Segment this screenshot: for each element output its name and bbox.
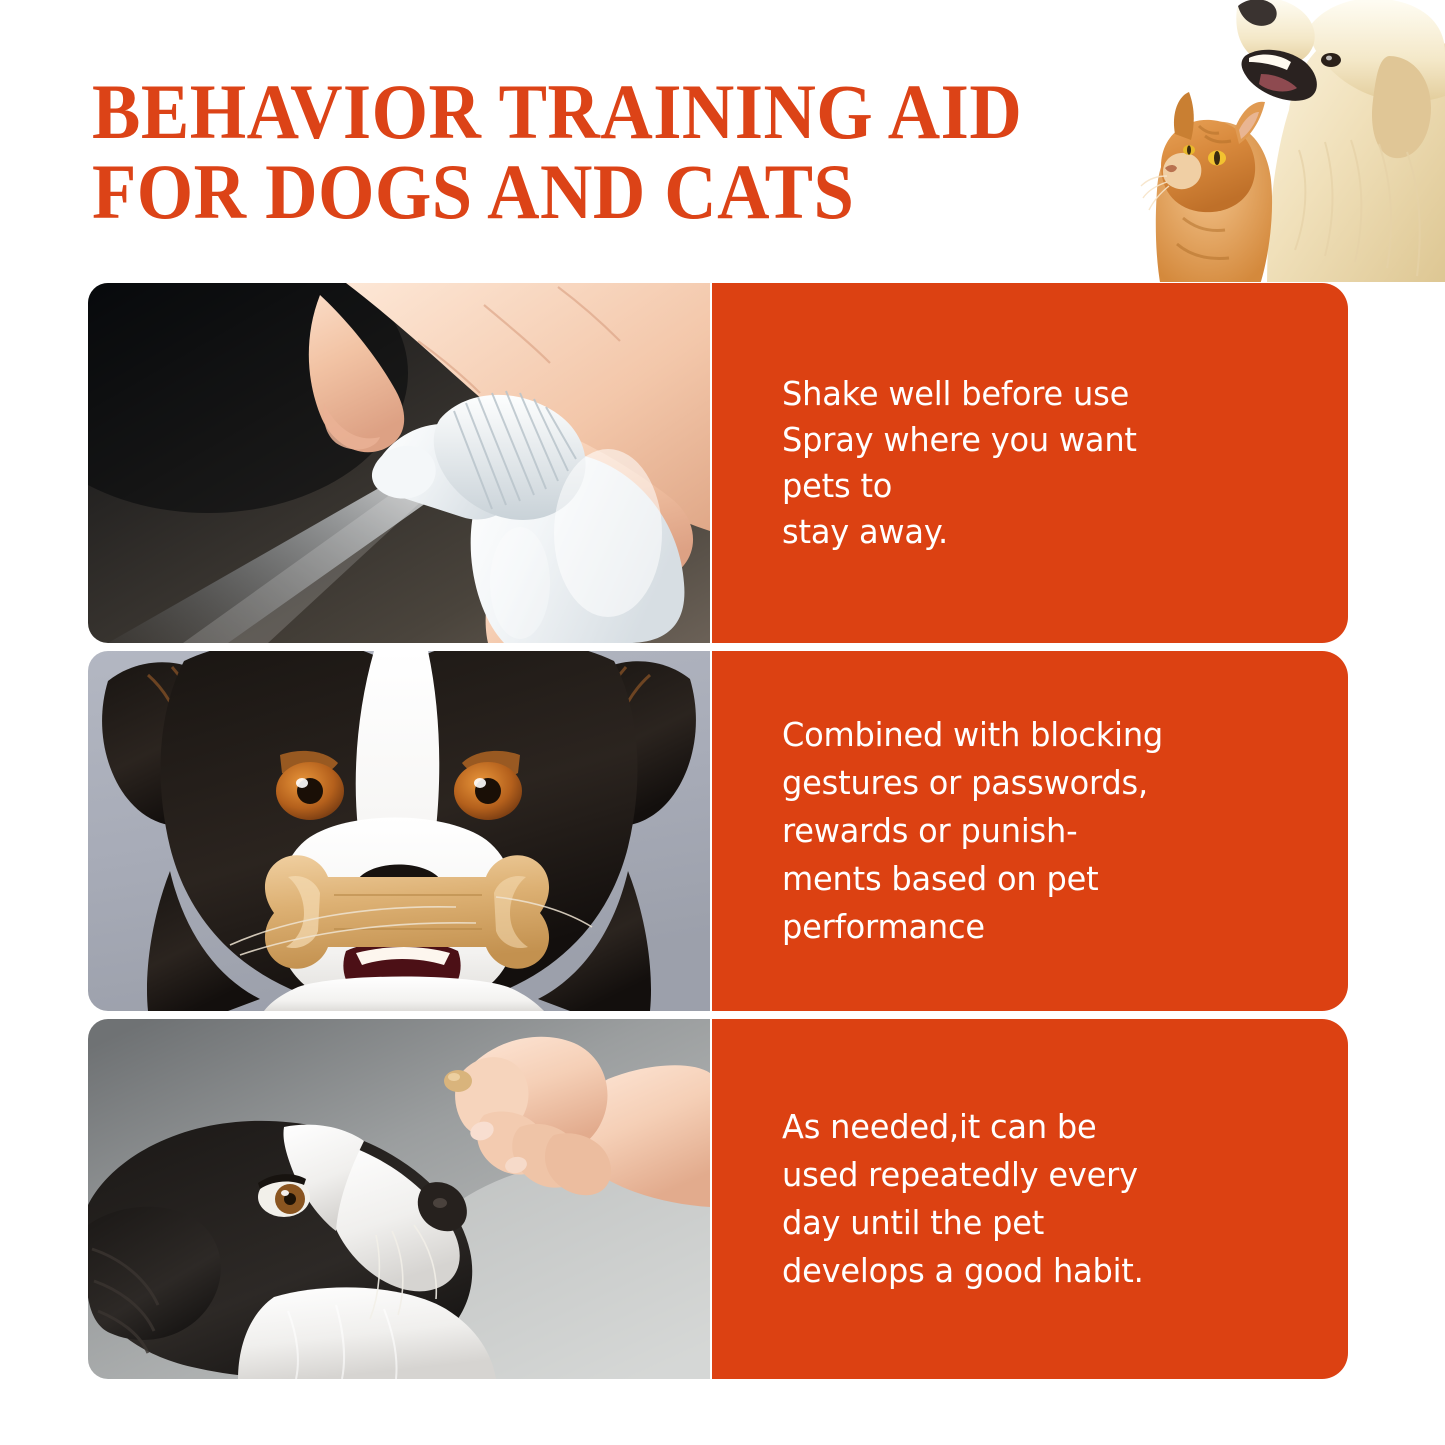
step-row-2: Combined with blocking gestures or passw… bbox=[88, 651, 1348, 1011]
step-3-photo-collie-treat bbox=[88, 1019, 710, 1379]
step-row-3: As needed,it can be used repeatedly ever… bbox=[88, 1019, 1348, 1379]
step-row-1: Shake well before use Spray where you wa… bbox=[88, 283, 1348, 643]
step-1-photo-spray-bottle bbox=[88, 283, 710, 643]
spray-bottle-illustration bbox=[88, 283, 710, 643]
step-1-text: Shake well before use Spray where you wa… bbox=[782, 371, 1137, 555]
page-title-line-1: BEHAVIOR TRAINING AID bbox=[92, 72, 1069, 152]
step-2-photo-collie-with-bone bbox=[88, 651, 710, 1011]
step-2-text-card: Combined with blocking gestures or passw… bbox=[712, 651, 1348, 1011]
collie-treat-illustration bbox=[88, 1019, 710, 1379]
step-1-text-card: Shake well before use Spray where you wa… bbox=[712, 283, 1348, 643]
hero-pets-image bbox=[1139, 0, 1445, 288]
page-title-line-2: FOR DOGS AND CATS bbox=[92, 152, 1069, 232]
step-3-text-card: As needed,it can be used repeatedly ever… bbox=[712, 1019, 1348, 1379]
collie-bone-illustration bbox=[88, 651, 710, 1011]
hero-pets-illustration bbox=[1139, 0, 1445, 288]
page-title: BEHAVIOR TRAINING AID FOR DOGS AND CATS bbox=[92, 72, 1142, 232]
step-2-text: Combined with blocking gestures or passw… bbox=[782, 711, 1163, 951]
step-3-text: As needed,it can be used repeatedly ever… bbox=[782, 1103, 1144, 1295]
